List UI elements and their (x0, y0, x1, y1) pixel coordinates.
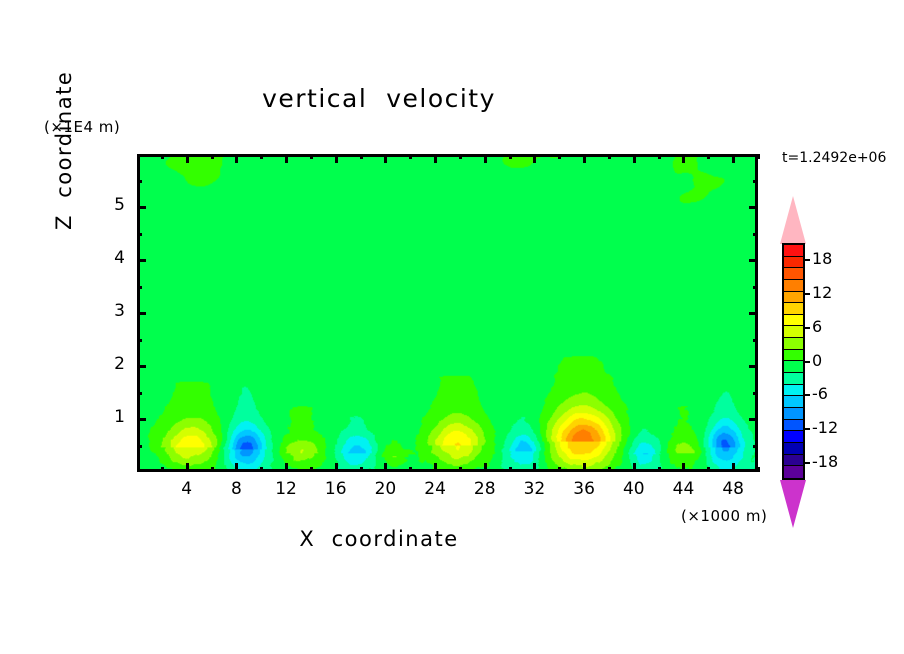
x-axis-tick (235, 154, 238, 163)
y-axis-tick (137, 392, 142, 395)
colorbar-band (784, 326, 803, 338)
x-axis-tick (707, 154, 710, 159)
colorbar-band (784, 257, 803, 269)
y-axis-tick (137, 339, 142, 342)
x-axis-tick (285, 463, 288, 472)
x-axis-tick (633, 154, 636, 163)
x-axis-tick (658, 154, 661, 159)
x-axis-tick (384, 154, 387, 163)
x-axis-tick (161, 154, 164, 159)
y-axis-tick (753, 445, 758, 448)
y-axis-tick-label: 5 (101, 195, 125, 215)
x-axis-tick (434, 154, 437, 163)
y-axis-tick (753, 233, 758, 236)
colorbar-tick-label: -12 (812, 418, 838, 437)
colorbar-tick (805, 327, 810, 329)
contour-plot-area (137, 154, 758, 472)
colorbar-band (784, 408, 803, 420)
colorbar-band (784, 361, 803, 373)
colorbar-band (784, 315, 803, 327)
y-axis-tick (137, 180, 142, 183)
x-axis-tick-label: 48 (713, 479, 753, 499)
y-axis-tick-label: 3 (101, 301, 125, 321)
x-axis-tick (211, 154, 214, 159)
x-axis-tick (459, 154, 462, 159)
x-axis-tick (335, 463, 338, 472)
x-axis-tick (484, 463, 487, 472)
x-axis-tick (360, 154, 363, 159)
x-axis-unit-label: (×1000 m) (681, 507, 767, 525)
colorbar-tick (805, 361, 810, 363)
y-axis-tick (137, 286, 142, 289)
x-axis-tick-label: 4 (167, 479, 207, 499)
y-axis-tick-label: 2 (101, 354, 125, 374)
x-axis-tick (459, 467, 462, 472)
y-axis-tick-label: 4 (101, 248, 125, 268)
colorbar-band (784, 303, 803, 315)
y-axis-tick (137, 445, 142, 448)
x-axis-tick (260, 467, 263, 472)
colorbar-tick (805, 428, 810, 430)
x-axis-tick (558, 467, 561, 472)
x-axis-tick (732, 463, 735, 472)
y-axis-tick (749, 365, 758, 368)
colorbar-band (784, 350, 803, 362)
time-annotation: t=1.2492e+06 (782, 150, 886, 166)
x-axis-tick (260, 154, 263, 159)
y-axis-tick (137, 312, 146, 315)
x-axis-tick (633, 463, 636, 472)
x-axis-tick (186, 154, 189, 163)
y-axis-tick (137, 365, 146, 368)
x-axis-tick (707, 467, 710, 472)
x-axis-tick (558, 154, 561, 159)
colorbar-band (784, 292, 803, 304)
x-axis-tick (682, 154, 685, 163)
x-axis-tick-label: 8 (216, 479, 256, 499)
y-axis-tick (749, 312, 758, 315)
x-axis-tick (583, 154, 586, 163)
x-axis-tick (658, 467, 661, 472)
x-axis-tick-label: 16 (316, 479, 356, 499)
x-axis-tick (285, 154, 288, 163)
colorbar-band (784, 385, 803, 397)
x-axis-tick (757, 154, 760, 159)
x-axis-tick (682, 463, 685, 472)
x-axis-tick (310, 154, 313, 159)
colorbar-tick (805, 462, 810, 464)
x-axis-tick (409, 154, 412, 159)
x-axis-tick (484, 154, 487, 163)
colorbar-band (784, 455, 803, 467)
y-axis-tick (753, 286, 758, 289)
y-axis-tick (749, 259, 758, 262)
x-axis-tick-label: 28 (465, 479, 505, 499)
y-axis-tick (749, 206, 758, 209)
y-axis-tick-label: 1 (101, 407, 125, 427)
colorbar-band (784, 396, 803, 408)
y-axis-tick (749, 418, 758, 421)
x-axis-tick-label: 12 (266, 479, 306, 499)
x-axis-tick-label: 20 (365, 479, 405, 499)
x-axis-tick (409, 467, 412, 472)
x-axis-tick-label: 32 (514, 479, 554, 499)
page-title: vertical velocity (0, 84, 758, 113)
x-axis-tick (509, 154, 512, 159)
x-axis-tick-label: 36 (564, 479, 604, 499)
colorbar-tick (805, 259, 810, 261)
colorbar-tick (805, 394, 810, 396)
colorbar-under-arrow (780, 480, 806, 528)
x-axis-tick (384, 463, 387, 472)
colorbar (782, 243, 805, 480)
colorbar-tick-label: -6 (812, 384, 828, 403)
colorbar-tick-label: 12 (812, 283, 832, 302)
colorbar-tick-label: 0 (812, 351, 822, 370)
x-axis-tick (533, 463, 536, 472)
x-axis-tick (583, 463, 586, 472)
y-axis-tick (137, 259, 146, 262)
y-axis-tick (753, 339, 758, 342)
y-axis-tick (137, 233, 142, 236)
colorbar-band (784, 373, 803, 385)
y-axis-tick (753, 392, 758, 395)
y-axis-title: Z coordinate (52, 71, 76, 230)
colorbar-band (784, 431, 803, 443)
colorbar-band (784, 466, 803, 478)
x-axis-tick (732, 154, 735, 163)
velocity-field-canvas (140, 157, 755, 469)
colorbar-over-arrow (780, 196, 806, 244)
colorbar-tick-label: 6 (812, 317, 822, 336)
x-axis-tick-label: 44 (663, 479, 703, 499)
colorbar-tick-label: 18 (812, 249, 832, 268)
y-axis-tick (137, 206, 146, 209)
x-axis-tick (335, 154, 338, 163)
x-axis-tick-label: 40 (614, 479, 654, 499)
x-axis-tick (161, 467, 164, 472)
x-axis-tick-label: 24 (415, 479, 455, 499)
colorbar-band (784, 280, 803, 292)
x-axis-tick (310, 467, 313, 472)
x-axis-tick (608, 467, 611, 472)
colorbar-band (784, 420, 803, 432)
x-axis-tick (211, 467, 214, 472)
x-axis-tick (235, 463, 238, 472)
x-axis-tick (533, 154, 536, 163)
y-axis-tick (137, 418, 146, 421)
colorbar-band (784, 268, 803, 280)
colorbar-tick (805, 293, 810, 295)
x-axis-tick (360, 467, 363, 472)
x-axis-tick (434, 463, 437, 472)
colorbar-band (784, 245, 803, 257)
colorbar-band (784, 443, 803, 455)
colorbar-tick-label: -18 (812, 452, 838, 471)
x-axis-tick (608, 154, 611, 159)
x-axis-tick (757, 467, 760, 472)
x-axis-tick (509, 467, 512, 472)
vertical-velocity-figure: vertical velocity (×1E4 m) (×1000 m) X c… (0, 0, 904, 654)
y-axis-tick (753, 180, 758, 183)
colorbar-band (784, 338, 803, 350)
x-axis-tick (186, 463, 189, 472)
x-axis-title: X coordinate (0, 527, 758, 551)
